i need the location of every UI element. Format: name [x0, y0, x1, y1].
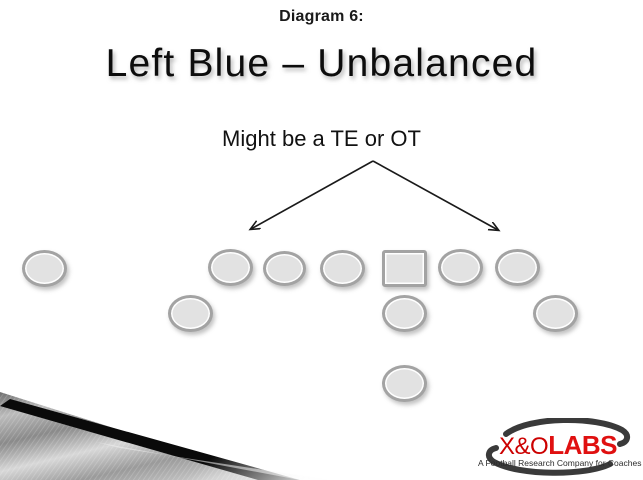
- logo-xo-text: X&O: [499, 433, 548, 460]
- player-ol-left-tackle: [320, 250, 365, 287]
- player-wing-right: [533, 295, 578, 332]
- player-ol-left: [208, 249, 253, 286]
- footer-decoration: [0, 370, 400, 480]
- player-ol-left-guard: [263, 251, 306, 286]
- logo-wordmark: X&OLABS: [478, 432, 638, 459]
- annotation-label: Might be a TE or OT: [0, 126, 643, 152]
- slide-canvas: Diagram 6: Left Blue – Unbalanced Might …: [0, 0, 643, 480]
- slide-subtitle: Diagram 6:: [0, 8, 643, 26]
- xo-labs-logo: X&OLABS A Football Research Company for …: [478, 418, 638, 476]
- player-split-end-left: [22, 250, 67, 287]
- logo-tagline: A Football Research Company for Coaches: [478, 458, 638, 468]
- page-title: Left Blue – Unbalanced: [0, 42, 643, 86]
- player-wing-left: [168, 295, 213, 332]
- player-center: [382, 250, 427, 287]
- logo-labs-text: LABS: [548, 430, 617, 460]
- arrow-left: [251, 161, 373, 229]
- player-ol-right-guard: [438, 249, 483, 286]
- player-ol-right-tackle: [495, 249, 540, 286]
- arrow-right: [373, 161, 498, 230]
- player-quarterback: [382, 295, 427, 332]
